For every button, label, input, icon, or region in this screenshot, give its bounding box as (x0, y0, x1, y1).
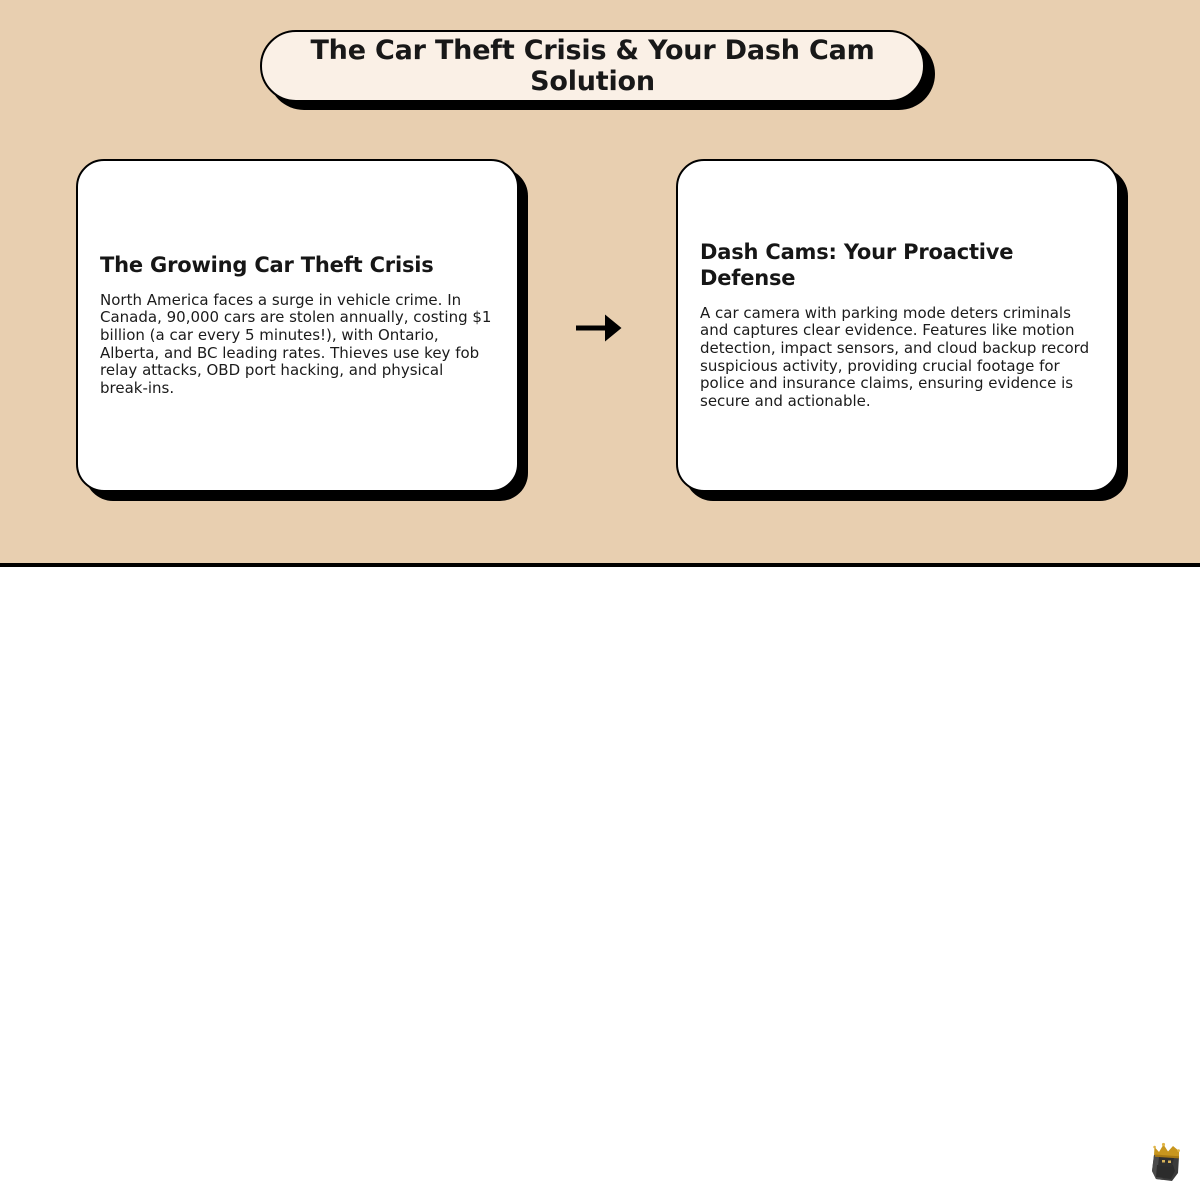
title-pill: The Car Theft Crisis & Your Dash Cam Sol… (260, 30, 925, 102)
footer-bar (0, 567, 1200, 630)
right-card-body: A car camera with parking mode deters cr… (700, 305, 1095, 411)
page-title: The Car Theft Crisis & Your Dash Cam Sol… (262, 35, 923, 97)
left-card-body: North America faces a surge in vehicle c… (100, 292, 495, 398)
arrow-right-icon (572, 303, 626, 353)
card-growing-car-theft-crisis: The Growing Car Theft Crisis North Ameri… (76, 159, 519, 492)
card-dash-cams-proactive-defense: Dash Cams: Your Proactive Defense A car … (676, 159, 1119, 492)
right-card-heading: Dash Cams: Your Proactive Defense (700, 240, 1095, 291)
main-canvas: The Car Theft Crisis & Your Dash Cam Sol… (0, 0, 1200, 563)
infographic-slide: The Car Theft Crisis & Your Dash Cam Sol… (0, 0, 1200, 630)
left-card-heading: The Growing Car Theft Crisis (100, 253, 495, 279)
crowned-helmet-logo-icon (1146, 1141, 1186, 1183)
